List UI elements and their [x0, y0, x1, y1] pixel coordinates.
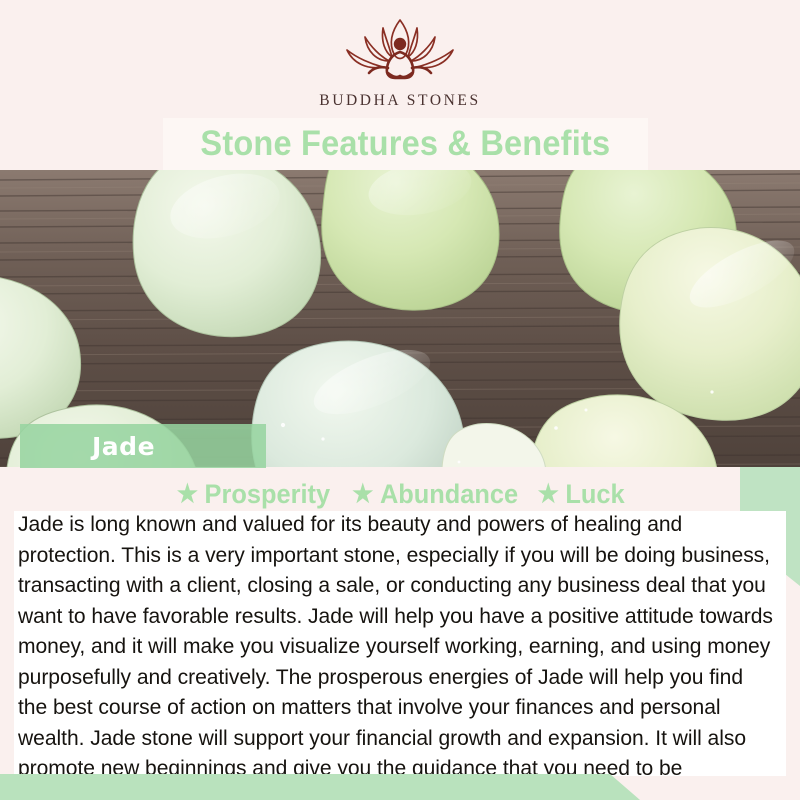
- decor-accent-bottom: [0, 774, 640, 800]
- benefit-item: ★ Abundance: [352, 479, 518, 510]
- title-banner: Stone Features & Benefits: [163, 118, 648, 170]
- benefits-list: ★ Prosperity ★ Abundance ★ Luck: [0, 478, 800, 511]
- stone-info-card: BUDDHA STONES: [0, 0, 800, 800]
- brand-logo: BUDDHA STONES: [250, 16, 550, 110]
- brand-name: BUDDHA STONES: [250, 92, 550, 110]
- benefit-label: Luck: [566, 479, 625, 510]
- lotus-meditation-icon: [325, 16, 475, 88]
- star-icon: ★: [538, 482, 559, 507]
- stone-photo-canvas: [0, 170, 800, 467]
- page-title: Stone Features & Benefits: [201, 124, 611, 164]
- star-icon: ★: [352, 482, 373, 507]
- stone-name-bar: Jade: [20, 424, 266, 468]
- stone-photo: [0, 170, 800, 467]
- star-icon: ★: [177, 482, 198, 507]
- benefit-item: ★ Prosperity: [177, 479, 330, 510]
- description-panel: Jade is long known and valued for its be…: [14, 511, 786, 776]
- stone-name: Jade: [92, 432, 155, 461]
- benefit-label: Abundance: [380, 479, 518, 510]
- benefit-label: Prosperity: [205, 479, 331, 510]
- description-text: Jade is long known and valued for its be…: [18, 509, 774, 800]
- benefit-item: ★ Luck: [538, 479, 625, 510]
